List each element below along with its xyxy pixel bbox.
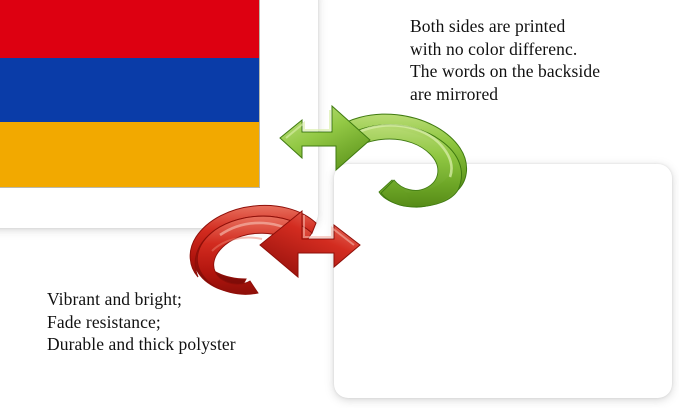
flag-stripe-red [0,0,259,58]
red-curved-arrow [198,193,368,293]
product-image-canvas: Both sides are printed with no color dif… [0,0,679,408]
caption-vibrant-durable: Vibrant and bright; Fade resistance; Dur… [47,288,236,356]
caption-both-sides-printed: Both sides are printed with no color dif… [410,15,600,105]
green-arrow-head [280,106,370,170]
flag-stripe-blue [0,58,259,123]
flag-stripe-orange [0,122,259,187]
front-side-flag [0,0,260,188]
